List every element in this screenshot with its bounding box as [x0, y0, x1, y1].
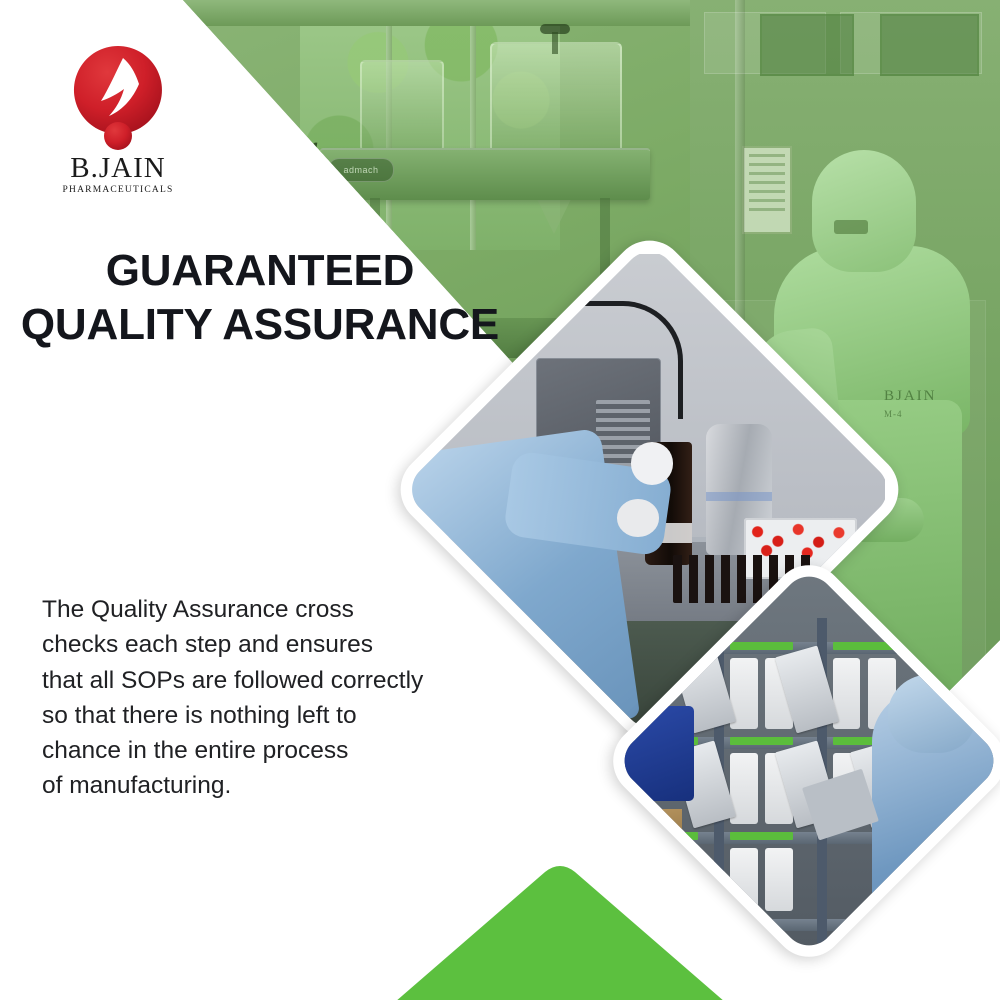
body-line-4: so that there is nothing left to [42, 698, 522, 733]
poster-canvas: admach BJPL/TAB/CPR/001 B BJAIN M-4 [0, 0, 1000, 1000]
operator-visor [834, 220, 868, 234]
green-triangle-accent [395, 862, 725, 1000]
page-title: GUARANTEED QUALITY ASSURANCE [0, 244, 520, 351]
operator-hood [812, 150, 916, 272]
technician-hood [888, 674, 975, 753]
operator-gown-logo: BJAIN M-4 [884, 388, 937, 419]
body-line-2: checks each step and ensures [42, 627, 522, 662]
cardboard-carton [627, 809, 682, 857]
wall-poster [880, 14, 979, 76]
canister-band [706, 492, 772, 501]
body-line-3: that all SOPs are followed correctly [42, 663, 522, 698]
machine-hopper [490, 42, 622, 154]
shelf-label [730, 642, 793, 650]
body-line-1: The Quality Assurance cross [42, 592, 522, 627]
stock-container [730, 848, 758, 911]
stool-post [527, 640, 531, 715]
operator-gown-logo-text: BJAIN [884, 388, 937, 404]
machine-script-mark: B [300, 150, 316, 180]
machine-brand-badge: admach [328, 158, 394, 182]
body-line-5: chance in the entire process [42, 733, 522, 768]
operator-gown-logo-sub: M-4 [884, 409, 937, 419]
red-caps [744, 513, 857, 560]
body-paragraph: The Quality Assurance cross checks each … [42, 592, 522, 804]
shelf-label [635, 832, 698, 840]
shelf-label [730, 737, 793, 745]
stock-container [765, 848, 793, 911]
brand-name: B.JAIN [48, 154, 188, 183]
shelf-label [833, 642, 896, 650]
brand-tagline: PHARMACEUTICALS [48, 185, 188, 195]
machine-secondary-hopper [360, 60, 444, 152]
headline-line-2: QUALITY ASSURANCE [0, 298, 520, 352]
shelf-label [730, 832, 793, 840]
gloved-hand [631, 442, 673, 484]
body-line-6: of manufacturing. [42, 768, 522, 803]
brand-logo[interactable]: B.JAIN PHARMACEUTICALS [48, 44, 188, 189]
wall-poster [760, 14, 854, 76]
brand-wordmark: B.JAIN PHARMACEUTICALS [48, 154, 188, 195]
headline-line-1: GUARANTEED [0, 244, 520, 298]
gloved-hand [617, 499, 659, 537]
machine-rod [552, 32, 558, 54]
bjain-flame-logo-icon [61, 44, 176, 152]
